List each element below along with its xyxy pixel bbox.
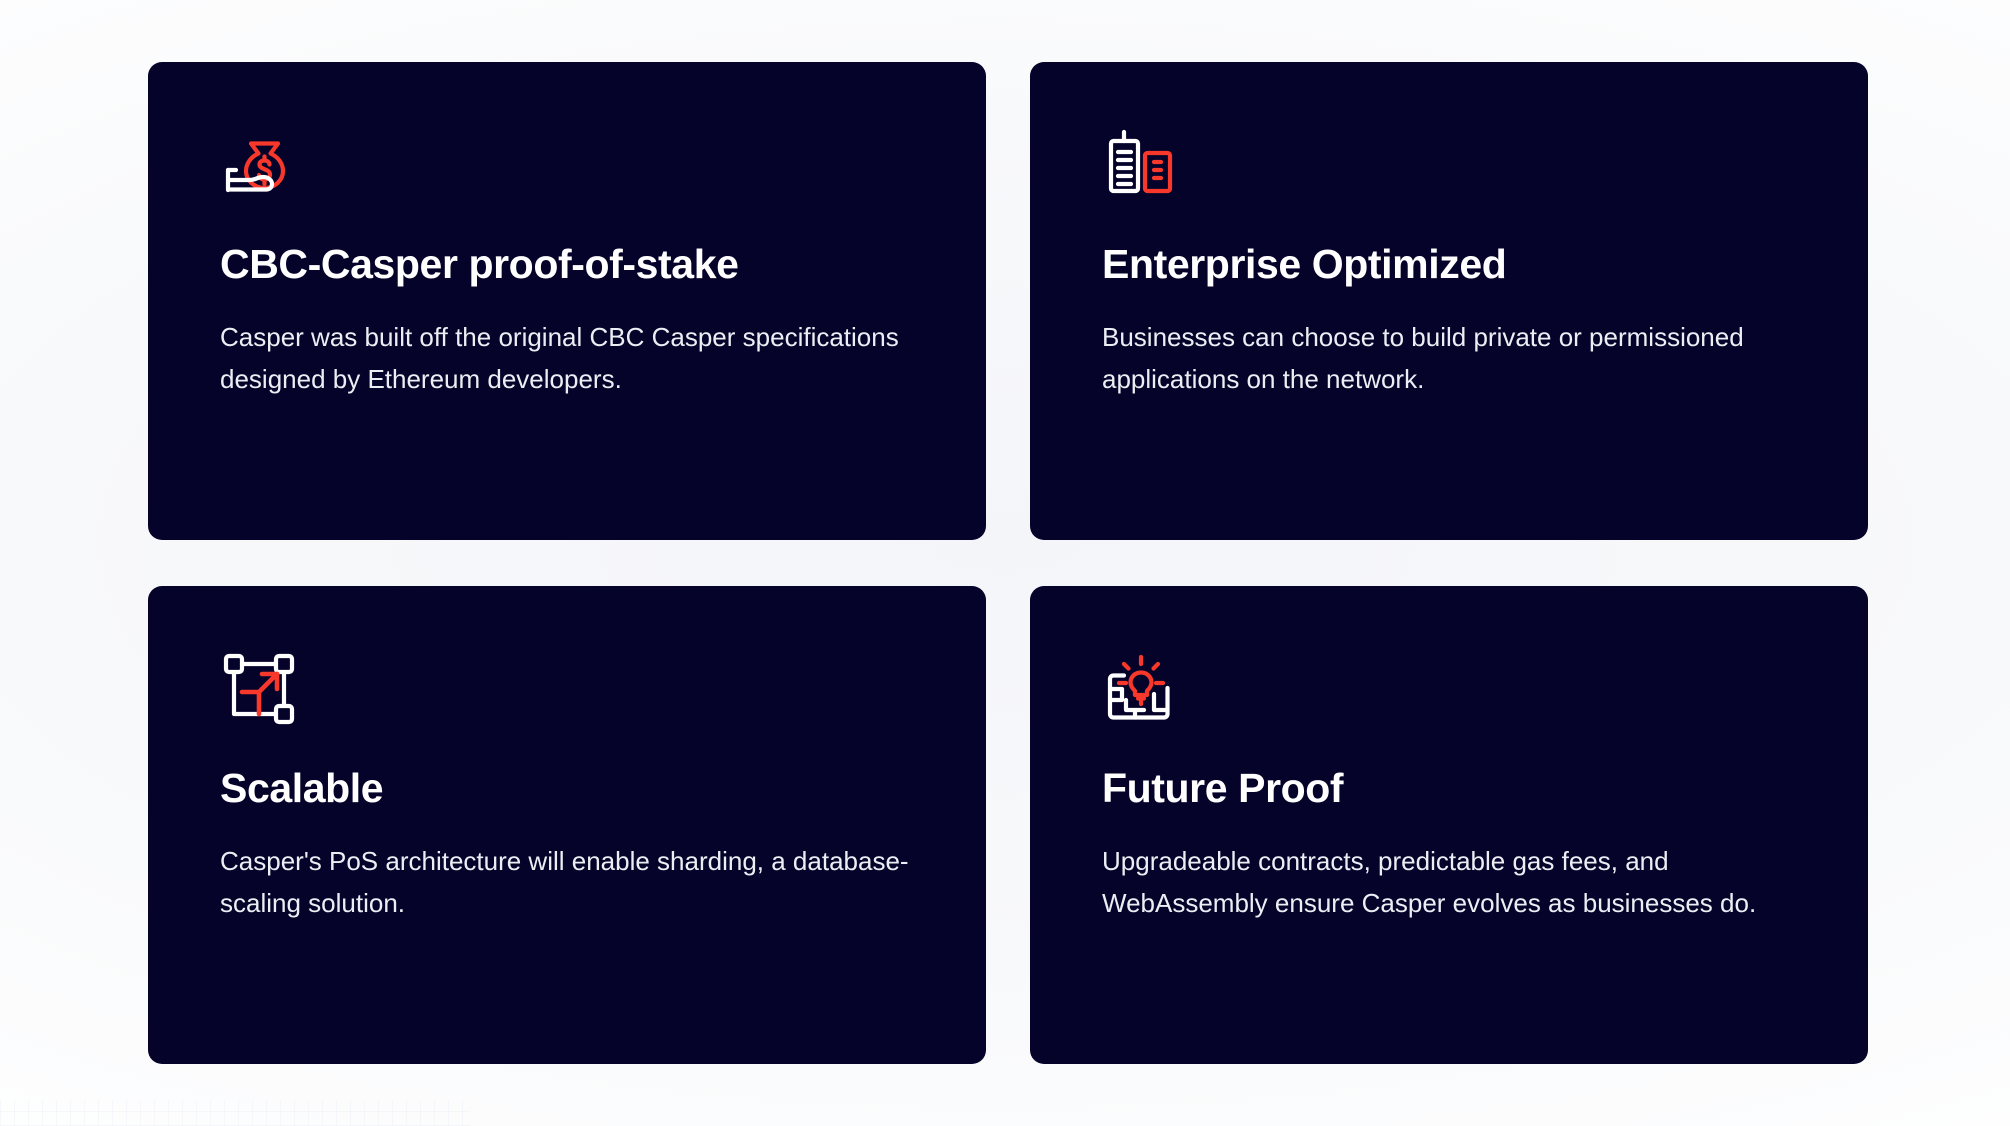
money-bag-hand-icon — [220, 126, 298, 204]
feature-card-scalable[interactable]: Scalable Casper's PoS architecture will … — [148, 586, 986, 1064]
feature-card-cbc-casper-proof-of-stake[interactable]: CBC-Casper proof-of-stake Casper was bui… — [148, 62, 986, 540]
scale-expand-arrow-icon — [220, 650, 298, 728]
card-body: Casper's PoS architecture will enable sh… — [220, 840, 910, 924]
card-body: Upgradeable contracts, predictable gas f… — [1102, 840, 1792, 924]
card-body: Casper was built off the original CBC Ca… — [220, 316, 910, 400]
office-buildings-icon — [1102, 126, 1180, 204]
card-title: CBC-Casper proof-of-stake — [220, 242, 914, 288]
card-title: Enterprise Optimized — [1102, 242, 1796, 288]
feature-card-future-proof[interactable]: Future Proof Upgradeable contracts, pred… — [1030, 586, 1868, 1064]
blueprint-lightbulb-icon — [1102, 650, 1180, 728]
feature-card-grid: CBC-Casper proof-of-stake Casper was bui… — [148, 62, 1868, 1064]
card-title: Scalable — [220, 766, 914, 812]
feature-card-enterprise-optimized[interactable]: Enterprise Optimized Businesses can choo… — [1030, 62, 1868, 540]
feature-section: CBC-Casper proof-of-stake Casper was bui… — [0, 0, 2010, 1126]
card-body: Businesses can choose to build private o… — [1102, 316, 1792, 400]
card-title: Future Proof — [1102, 766, 1796, 812]
